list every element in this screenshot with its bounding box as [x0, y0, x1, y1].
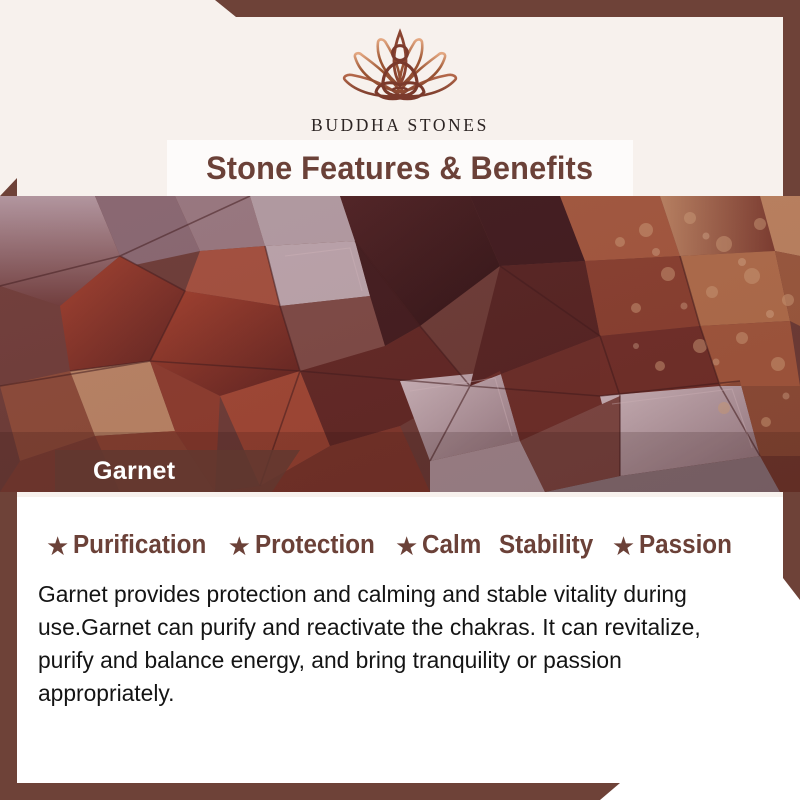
frame-border-bottom: [0, 783, 640, 800]
infographic-page: BUDDHA STONES Stone Features & Benefits: [0, 0, 800, 800]
benefits-row: ★ Purification ★ Protection ★ Calm Stabi…: [46, 531, 766, 560]
benefit-item-calm: ★ Calm: [395, 531, 485, 560]
benefit-label: Protection: [255, 531, 375, 560]
star-icon: ★: [612, 533, 635, 559]
benefit-label: Stability: [499, 531, 593, 560]
benefit-item-passion: ★ Passion: [612, 531, 737, 560]
lotus-meditation-figure-icon: [316, 22, 484, 110]
stone-name-text: Garnet: [93, 457, 175, 486]
garnet-crystal-cluster-photo: [0, 196, 800, 492]
brand-logo: BUDDHA STONES: [0, 22, 800, 136]
star-icon: ★: [46, 533, 69, 559]
stone-name-label: Garnet: [55, 450, 300, 492]
benefit-label: Passion: [639, 531, 732, 560]
benefit-item-stability: Stability: [499, 531, 598, 560]
star-icon: ★: [395, 533, 418, 559]
page-title: Stone Features & Benefits: [206, 150, 593, 187]
benefit-item-purification: ★ Purification: [46, 531, 214, 560]
stone-photo: [0, 196, 800, 492]
benefit-item-protection: ★ Protection: [228, 531, 381, 560]
benefit-label: Calm: [422, 531, 481, 560]
star-icon: ★: [228, 533, 251, 559]
benefit-label: Purification: [73, 531, 206, 560]
title-band: Stone Features & Benefits: [167, 140, 633, 196]
stone-description: Garnet provides protection and calming a…: [38, 578, 734, 710]
brand-name: BUDDHA STONES: [311, 115, 489, 136]
